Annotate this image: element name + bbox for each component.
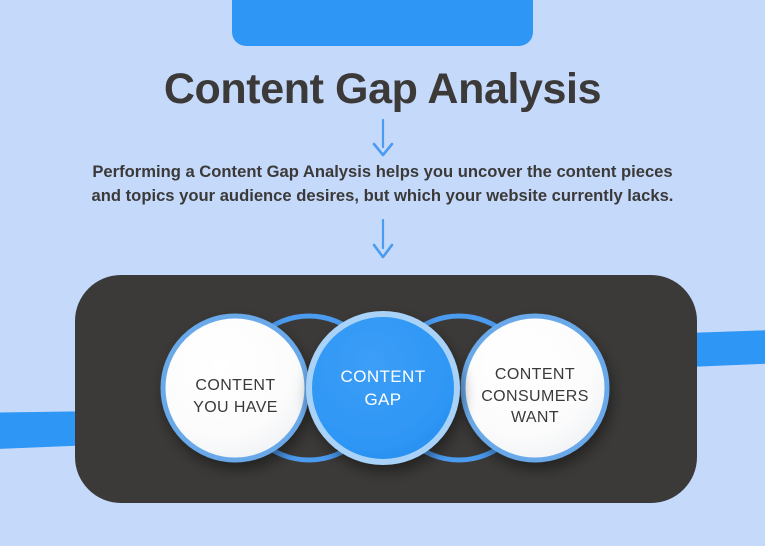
subtitle-line-2: and topics your audience desires, but wh… [40,184,725,208]
subtitle-line-1: Performing a Content Gap Analysis helps … [40,160,725,184]
label-line: WANT [462,407,608,429]
diagram-section: CONTENT YOU HAVE CONTENT GAP CONTENT CON… [0,262,765,522]
venn-label-content-you-have: CONTENT YOU HAVE [163,375,308,418]
infographic-canvas: Content Gap Analysis Performing a Conten… [0,0,765,546]
label-line: CONTENT [310,365,456,388]
label-line: CONSUMERS [462,386,608,408]
page-title: Content Gap Analysis [0,64,765,114]
venn-label-content-gap: CONTENT GAP [310,365,456,411]
venn-label-content-consumers-want: CONTENT CONSUMERS WANT [462,364,608,429]
top-accent-tab [232,0,533,46]
label-line: GAP [310,388,456,411]
label-line: CONTENT [462,364,608,386]
down-arrow-icon-2 [367,219,399,259]
subtitle-text: Performing a Content Gap Analysis helps … [40,160,725,207]
down-arrow-icon-1 [367,119,399,157]
label-line: YOU HAVE [163,397,308,419]
label-line: CONTENT [163,375,308,397]
